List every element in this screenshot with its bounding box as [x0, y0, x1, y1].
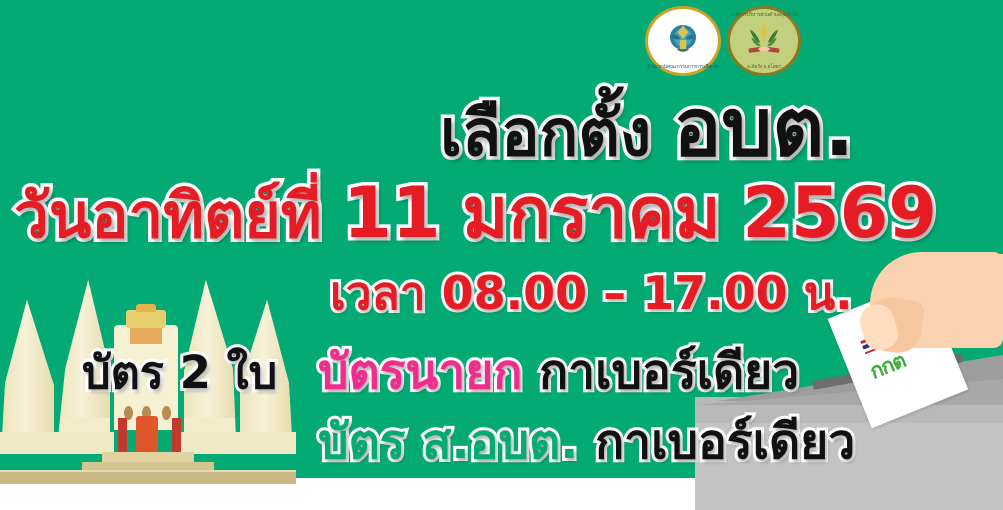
ballot-row-mayor-name: บัตรนายก [318, 344, 522, 400]
ballot-row-council-instruction: กาเบอร์เดียว [595, 414, 855, 470]
date-month: มกราคม [462, 172, 720, 254]
rice-and-handshake-icon [745, 20, 783, 59]
election-time: เวลา 08.00 – 17.00 น. [330, 270, 853, 316]
monument-tower-crown [126, 310, 166, 328]
monument-tower-tip [136, 304, 156, 312]
emblem-group: สำนักงานคณะกรรมการการเลือกตั้ง องค์การบร… [645, 6, 815, 76]
garuda-emblem: สำนักงานคณะกรรมการการเลือกตั้ง [645, 6, 721, 76]
headline-main: อบต. [673, 81, 854, 174]
election-poster: กกต [0, 0, 1003, 510]
page-title: เลือกตั้ง อบต. [440, 88, 855, 168]
ballot-row-council: บัตร ส.อบต. กาเบอร์เดียว [318, 418, 855, 466]
monument-wing-base [48, 432, 114, 454]
monument-window [162, 406, 171, 420]
garuda-icon [663, 20, 703, 59]
date-day-label: วันอาทิตย์ที่ [14, 179, 322, 252]
emblem-caption-bottom: อ.ค้อวัง จ.ยโสธร [727, 63, 801, 71]
date-day-number: 11 [343, 172, 440, 254]
ballot-row-mayor: บัตรนายก กาเบอร์เดียว [318, 348, 799, 396]
headline-prefix: เลือกตั้ง [440, 97, 651, 171]
monument-wing [2, 300, 54, 438]
emblem-caption: สำนักงานคณะกรรมการการเลือกตั้ง [645, 63, 721, 71]
ballot-row-mayor-instruction: กาเบอร์เดียว [539, 344, 799, 400]
ballot-count-label: บัตร 2 ใบ [82, 350, 277, 395]
emblem-caption-top: องค์การบริหารส่วนตำบลกุดน้ำใส [727, 11, 801, 19]
subdistrict-administrative-organization-emblem: องค์การบริหารส่วนตำบลกุดน้ำใส อ.ค้อวัง จ… [727, 6, 801, 76]
date-year: 2569 [742, 172, 937, 254]
forearm-shape [950, 254, 1003, 328]
monument-tower-neck [130, 326, 162, 344]
ballot-row-council-name: บัตร ส.อบต. [318, 414, 578, 470]
election-date: วันอาทิตย์ที่ 11 มกราคม 2569 [14, 178, 937, 248]
monument-wing-base [230, 432, 296, 454]
monument-ground [0, 472, 296, 484]
